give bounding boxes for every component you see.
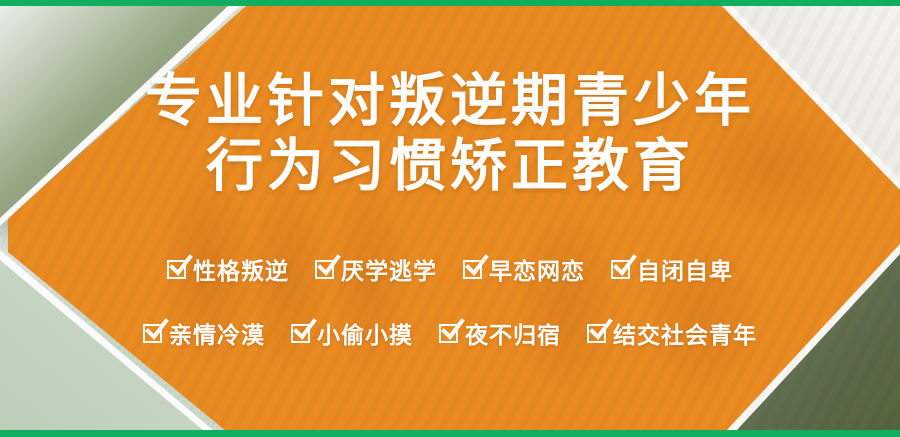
checklist-item-label: 夜不归宿 [465,316,561,350]
feature-checklist: 性格叛逆 厌学逃学 早恋网恋 [0,252,900,380]
banner-content: 专业针对叛逆期青少年 行为习惯矫正教育 性格叛逆 厌学逃学 [0,0,900,437]
checklist-item[interactable]: 性格叛逆 [167,252,289,286]
checklist-item[interactable]: 亲情冷漠 [143,316,265,350]
checklist-item[interactable]: 小偷小摸 [291,316,413,350]
checklist-item-label: 结交社会青年 [613,316,757,350]
headline: 专业针对叛逆期青少年 行为习惯矫正教育 [0,72,900,197]
checklist-item[interactable]: 结交社会青年 [587,316,757,350]
checklist-item[interactable]: 厌学逃学 [315,252,437,286]
checkmark-icon [143,324,162,343]
checklist-row-2: 亲情冷漠 小偷小摸 夜不归宿 [0,316,900,350]
checklist-item[interactable]: 早恋网恋 [463,252,585,286]
checkmark-icon [587,324,606,343]
promo-banner: 专业针对叛逆期青少年 行为习惯矫正教育 性格叛逆 厌学逃学 [0,0,900,437]
checklist-item-label: 亲情冷漠 [169,316,265,350]
checklist-item-label: 性格叛逆 [193,252,289,286]
checklist-item-label: 厌学逃学 [341,252,437,286]
checkmark-icon [439,324,458,343]
checklist-item-label: 早恋网恋 [489,252,585,286]
checkmark-icon [291,324,310,343]
checklist-row-1: 性格叛逆 厌学逃学 早恋网恋 [0,252,900,286]
checklist-item[interactable]: 自闭自卑 [611,252,733,286]
headline-line-1: 专业针对叛逆期青少年 [0,72,900,131]
checkmark-icon [463,260,482,279]
checkmark-icon [611,260,630,279]
checkmark-icon [167,260,186,279]
checklist-item-label: 小偷小摸 [317,316,413,350]
checklist-item-label: 自闭自卑 [637,252,733,286]
headline-line-2: 行为习惯矫正教育 [0,137,900,196]
checklist-item[interactable]: 夜不归宿 [439,316,561,350]
checkmark-icon [315,260,334,279]
